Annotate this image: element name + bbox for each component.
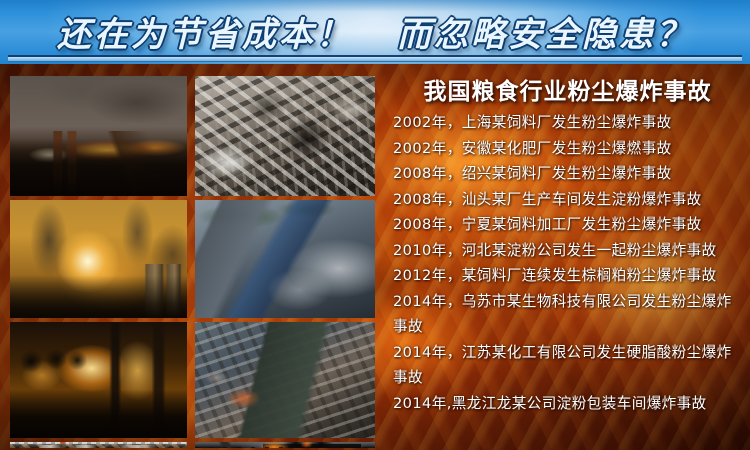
incident-list: 2002年，上海某饲料厂发生粉尘爆炸事故 2002年，安徽某化肥厂发生粉尘爆燃事…: [385, 110, 750, 416]
photo-aerial-plant-smoke: [195, 200, 375, 318]
incident-item: 2008年，宁夏某饲料加工厂发生粉尘爆炸事故: [393, 212, 744, 238]
incident-item: 2010年，河北某淀粉公司发生一起粉尘爆炸事故: [393, 238, 744, 264]
photo-fireball-smoke-columns: [10, 200, 187, 318]
photo-layer-responders: [195, 447, 375, 448]
photo-night-fire-rubble: [10, 76, 187, 196]
incident-item: 2014年,黑龙江龙某公司淀粉包装车间爆炸事故: [393, 391, 744, 417]
photo-smoking-ruined-building: [195, 442, 375, 448]
banner-headline: 还在为节省成本！ 而忽略安全隐患？: [0, 6, 750, 56]
photo-layer-foreground-dark: [10, 76, 187, 196]
photo-collapsed-plant-city: [10, 442, 187, 448]
poster-body: 我国粮食行业粉尘爆炸事故 2002年，上海某饲料厂发生粉尘爆炸事故 2002年，…: [0, 64, 750, 450]
photo-aerial-debris-field: [195, 76, 375, 196]
photo-grid: [10, 76, 375, 448]
incident-item: 2014年，江苏某化工有限公司发生硬脂酸粉尘爆炸事故: [393, 340, 744, 391]
incident-item: 2002年，安徽某化肥厂发生粉尘爆燃事故: [393, 136, 744, 162]
incident-item: 2012年，某饲料厂连续发生棕榈粕粉尘爆炸事故: [393, 263, 744, 289]
panel-title: 我国粮食行业粉尘爆炸事故: [385, 72, 750, 106]
banner-text-left: 还在为节省成本！: [57, 7, 353, 56]
banner-underline-rule: [8, 55, 742, 62]
banner-text-right: 而忽略安全隐患？: [397, 7, 693, 56]
photo-layer-foreground-dark: [10, 200, 187, 318]
photo-layer-wreck-masses: [195, 76, 375, 196]
header-banner: 还在为节省成本！ 而忽略安全隐患？: [0, 0, 750, 66]
incident-list-panel: 我国粮食行业粉尘爆炸事故 2002年，上海某饲料厂发生粉尘爆炸事故 2002年，…: [385, 64, 750, 450]
incident-item: 2008年，汕头某厂生产车间发生淀粉爆炸事故: [393, 187, 744, 213]
safety-poster: 还在为节省成本！ 而忽略安全隐患？: [0, 0, 750, 450]
photo-furnace-interior-fire: [10, 322, 187, 438]
incident-item: 2002年，上海某饲料厂发生粉尘爆炸事故: [393, 110, 744, 136]
incident-item: 2008年，绍兴某饲料厂发生粉尘爆炸事故: [393, 161, 744, 187]
photo-aerial-tanks-roof: [195, 322, 375, 438]
photo-layer-silo-cylinders: [10, 445, 187, 448]
incident-item: 2014年，乌苏市某生物科技有限公司发生粉尘爆炸事故: [393, 289, 744, 340]
photo-layer-foreground-dark: [10, 322, 187, 438]
photo-layer-tank: [195, 322, 375, 438]
photo-layer-smoke: [195, 200, 375, 318]
